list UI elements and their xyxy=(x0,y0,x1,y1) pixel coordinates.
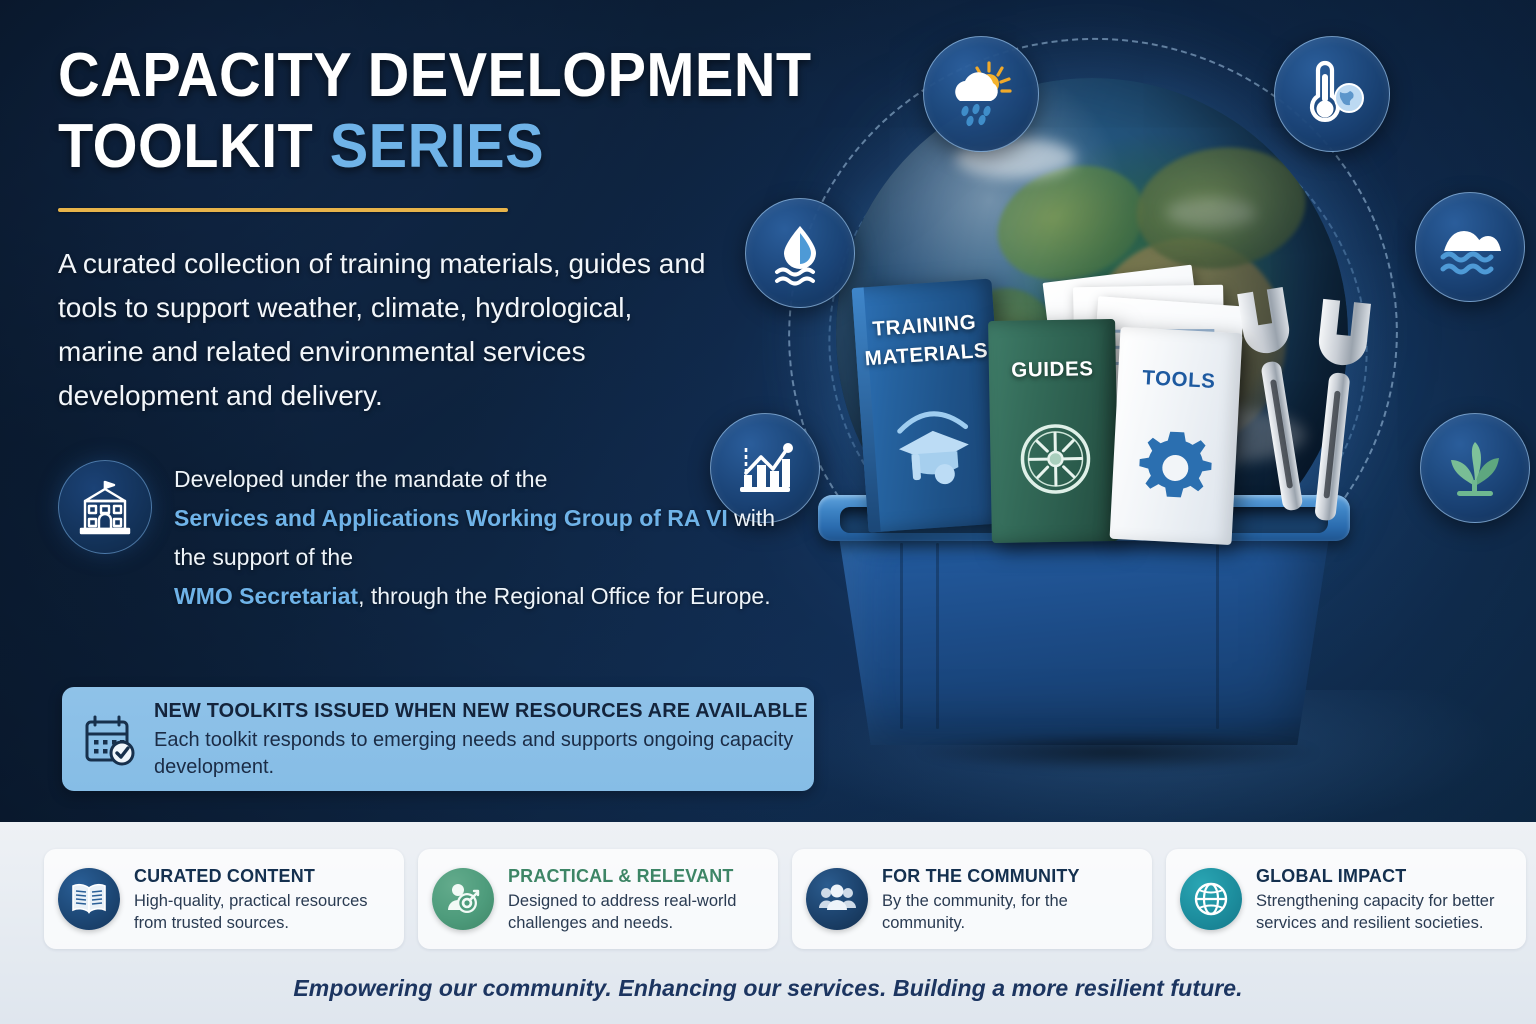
hero-text-column: CAPACITY DEVELOPMENT TOOLKIT SERIES A cu… xyxy=(58,44,798,616)
mandate-line1: Developed under the mandate of the xyxy=(174,466,547,492)
person-target-icon xyxy=(444,880,482,918)
book-label: GUIDES xyxy=(989,357,1116,383)
infographic-canvas: TRAINING MATERIALS GUIDES xyxy=(0,0,1536,1024)
marine-waves-icon xyxy=(1436,213,1504,281)
footer-tagline: Empowering our community. Enhancing our … xyxy=(0,975,1536,1002)
card-body: CURATED CONTENT High-quality, practical … xyxy=(134,865,390,934)
title-toolkit: TOOLKIT SERIES xyxy=(58,112,544,181)
callout-title: NEW TOOLKITS ISSUED WHEN NEW RESOURCES A… xyxy=(154,699,808,723)
orbit-bubble-climate xyxy=(1274,36,1390,152)
hero-lede: A curated collection of training materia… xyxy=(58,242,718,418)
crate-rib xyxy=(1216,543,1219,729)
curated-content-icon-circle xyxy=(58,868,120,930)
gear-icon xyxy=(1133,426,1217,510)
feature-cards: CURATED CONTENT High-quality, practical … xyxy=(44,849,1526,949)
institution-building-icon xyxy=(76,478,134,536)
climate-thermometer-globe-icon xyxy=(1296,58,1368,130)
callout-description: Each toolkit responds to emerging needs … xyxy=(154,727,828,781)
card-body: FOR THE COMMUNITY By the community, for … xyxy=(882,865,1138,934)
book-label: TRAINING MATERIALS xyxy=(854,306,998,374)
card-body: PRACTICAL & RELEVANT Designed to address… xyxy=(508,865,764,934)
card-description: By the community, for the community. xyxy=(882,890,1138,934)
crate-rib xyxy=(936,543,939,729)
environment-leaves-icon xyxy=(1441,434,1509,502)
globe-grid-icon xyxy=(1192,880,1230,918)
orbit-bubble-environment xyxy=(1420,413,1530,523)
orbit-bubble-marine xyxy=(1415,192,1525,302)
card-title: PRACTICAL & RELEVANT xyxy=(508,865,756,887)
card-description: High-quality, practical resources from t… xyxy=(134,890,390,934)
calendar-icon-wrap xyxy=(80,710,138,768)
institution-icon-circle xyxy=(58,460,152,554)
card-title: GLOBAL IMPACT xyxy=(1256,865,1504,887)
feature-card-for-the-community: FOR THE COMMUNITY By the community, for … xyxy=(792,849,1152,949)
card-description: Designed to address real-world challenge… xyxy=(508,890,764,934)
weather-sun-cloud-rain-icon xyxy=(944,57,1018,131)
mandate-highlight-secretariat: WMO Secretariat xyxy=(174,583,358,609)
card-title: CURATED CONTENT xyxy=(134,865,382,887)
card-body: GLOBAL IMPACT Strengthening capacity for… xyxy=(1256,865,1512,934)
mandate-line3: , through the Regional Office for Europe… xyxy=(358,583,771,609)
practical-relevant-icon-circle xyxy=(432,868,494,930)
hero-section: TRAINING MATERIALS GUIDES xyxy=(0,0,1536,822)
title-word-toolkit: TOOLKIT xyxy=(58,112,330,181)
open-book-icon xyxy=(70,880,108,918)
graduation-cap-icon xyxy=(888,398,980,490)
mandate-highlight-group: Services and Applications Working Group … xyxy=(174,505,728,531)
title-word-series: SERIES xyxy=(330,112,544,181)
mandate-block: Developed under the mandate of the Servi… xyxy=(58,456,798,616)
global-impact-icon-circle xyxy=(1180,868,1242,930)
feature-card-curated-content: CURATED CONTENT High-quality, practical … xyxy=(44,849,404,949)
callout-body: NEW TOOLKITS ISSUED WHEN NEW RESOURCES A… xyxy=(154,697,828,781)
feature-card-practical-relevant: PRACTICAL & RELEVANT Designed to address… xyxy=(418,849,778,949)
calendar-check-icon xyxy=(81,711,137,767)
compass-icon xyxy=(1016,419,1095,498)
page-title-line1: CAPACITY DEVELOPMENT xyxy=(58,44,746,108)
book-label: TOOLS xyxy=(1117,365,1240,395)
book-training-materials: TRAINING MATERIALS xyxy=(852,278,1009,532)
mandate-text: Developed under the mandate of the Servi… xyxy=(174,456,798,616)
crate-body xyxy=(836,517,1332,745)
orbit-bubble-weather xyxy=(923,36,1039,152)
wrenches xyxy=(1230,278,1410,528)
card-title: FOR THE COMMUNITY xyxy=(882,865,1130,887)
people-group-icon xyxy=(818,880,856,918)
community-icon-circle xyxy=(806,868,868,930)
page-title-line2: TOOLKIT SERIES xyxy=(58,112,746,182)
card-description: Strengthening capacity for better servic… xyxy=(1256,890,1512,934)
crate-rib xyxy=(900,543,903,729)
crate-shadow xyxy=(918,733,1318,771)
book-tools: TOOLS xyxy=(1110,327,1243,545)
wrench-icon xyxy=(1230,278,1410,528)
gold-divider xyxy=(58,208,508,212)
callout-banner: NEW TOOLKITS ISSUED WHEN NEW RESOURCES A… xyxy=(62,687,814,791)
book-guides: GUIDES xyxy=(988,319,1119,543)
feature-card-global-impact: GLOBAL IMPACT Strengthening capacity for… xyxy=(1166,849,1526,949)
